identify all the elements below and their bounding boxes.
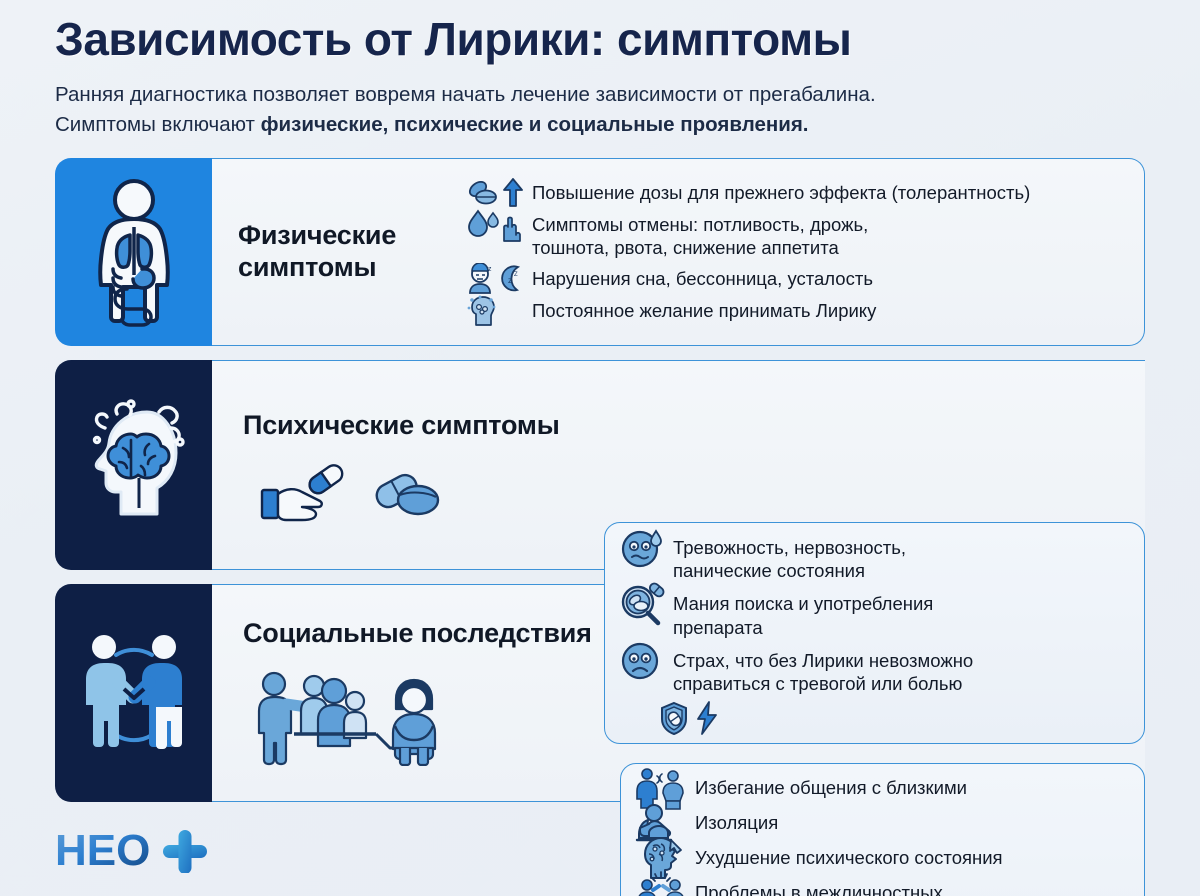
bullet-text: Нарушения сна, бессонница, усталость <box>532 266 873 290</box>
bullet-text-line-2: препарата <box>673 617 763 638</box>
bullet-text: Избегание общения с близкими <box>695 775 967 799</box>
conflict-people-icon <box>635 880 687 896</box>
svg-text:Z: Z <box>514 272 518 278</box>
bullet-text: Повышение дозы для прежнего эффекта (тол… <box>532 180 1030 204</box>
shield-pill-icon <box>659 701 689 740</box>
bullet-item: Постоянное желание принимать Лирику <box>466 298 1130 324</box>
social-bullets: Избегание общения с близкими Изоляция <box>635 775 1134 896</box>
bullet-text: Постоянное желание принимать Лирику <box>532 298 876 322</box>
page-title: Зависимость от Лирики: симптомы <box>55 14 1145 66</box>
cards-container: Физические симптомы По <box>0 158 1200 802</box>
bullet-text-line-1: Симптомы отмены: потливость, дрожь, <box>532 214 868 235</box>
page-header: Зависимость от Лирики: симптомы Ранняя д… <box>0 0 1200 140</box>
avoiding-people-icon <box>635 775 687 801</box>
bullet-item: Повышение дозы для прежнего эффекта (тол… <box>466 180 1130 206</box>
sweat-drops-trembling-hand-icon <box>466 212 524 238</box>
broken-mind-icon <box>635 845 687 871</box>
logo-text: НЕО <box>55 827 150 873</box>
card-social-bullets-panel: Избегание общения с близкими Изоляция <box>620 763 1145 896</box>
brand-logo: НЕО <box>55 827 225 878</box>
isolated-person <box>393 680 435 765</box>
two-people-handshake-icon <box>74 623 194 763</box>
bullet-text: Страх, что без Лирики невозможно справит… <box>673 648 973 696</box>
subtitle-line-2-prefix: Симптомы включают <box>55 113 261 136</box>
bullet-text-line-1: Проблемы в межличностных <box>695 882 943 896</box>
card-social-icon-panel <box>55 584 212 802</box>
lightning-bolt-icon <box>695 701 719 740</box>
group-isolation-icon <box>248 664 458 771</box>
bullet-item: Ухудшение психического состояния <box>635 845 1134 871</box>
page-subtitle: Ранняя диагностика позволяет вовремя нач… <box>55 80 1145 140</box>
head-brain-icon <box>75 390 193 540</box>
bullet-text: Мания поиска и употребления препарата <box>673 591 933 639</box>
card-physical-symptoms: Физические симптомы По <box>55 158 1145 346</box>
magnifier-pills-icon <box>619 591 665 617</box>
card-physical-bullets: Повышение дозы для прежнего эффекта (тол… <box>466 180 1130 324</box>
svg-text:z: z <box>508 276 512 285</box>
bullet-item: Мания поиска и употребления препарата <box>619 591 1134 639</box>
bullet-text-line-2: панические состояния <box>673 560 865 581</box>
bullet-item: Симптомы отмены: потливость, дрожь, тошн… <box>466 212 1130 260</box>
subtitle-line-2-bold: физические, психические и социальные про… <box>261 113 809 136</box>
sitting-alone-icon <box>635 810 687 836</box>
bullet-item: Страх, что без Лирики невозможно справит… <box>619 648 1134 696</box>
card-physical-title-wrap: Физические симптомы <box>238 220 466 284</box>
card-physical-icon-panel <box>55 158 212 346</box>
bullet-text: Ухудшение психического состояния <box>695 845 1003 869</box>
subtitle-line-1: Ранняя диагностика позволяет вовремя нач… <box>55 83 876 106</box>
bullet-text-line-1: Страх, что без Лирики невозможно <box>673 650 973 671</box>
card-physical-body: Физические симптомы По <box>212 158 1145 346</box>
bullet-item: Проблемы в межличностных и социальных от… <box>635 880 1134 896</box>
card-psychological-icon-panel <box>55 360 212 570</box>
bullet-item: Избегание общения с близкими <box>635 775 1134 801</box>
bullet-text: Тревожность, нервозность, панические сос… <box>673 535 906 583</box>
bullet-item: Изоляция <box>635 810 1134 836</box>
bullet-text-line-1: Мания поиска и употребления <box>673 593 933 614</box>
bullet-text-line-2: справиться с тревогой или болью <box>673 673 962 694</box>
bullet-item: Тревожность, нервозность, панические сос… <box>619 535 1134 583</box>
anxious-face-icon <box>619 535 665 561</box>
bullet-text: Изоляция <box>695 810 778 834</box>
bullet-text: Проблемы в межличностных и социальных от… <box>695 880 943 896</box>
card-social-title: Социальные последствия <box>243 618 592 650</box>
sad-face-icon <box>619 648 665 674</box>
craving-head-icon <box>466 298 524 324</box>
bullet-text-line-2: тошнота, рвота, снижение аппетита <box>532 237 839 258</box>
svg-text:z: z <box>488 266 492 273</box>
human-body-organs-icon <box>80 177 188 327</box>
bullet-text: Симптомы отмены: потливость, дрожь, тошн… <box>532 212 868 260</box>
card-psychological-title: Психические симптомы <box>243 410 560 442</box>
card-physical-title: Физические симптомы <box>238 220 466 284</box>
psych-footer-icons <box>659 701 1134 740</box>
sleepy-face-moon-icon: z z Z <box>466 266 524 292</box>
bullet-item: z z Z Нарушения сна, бессонница, усталос… <box>466 266 1130 292</box>
bullet-text-line-1: Тревожность, нервозность, <box>673 537 906 558</box>
hand-with-pills-icon <box>256 458 452 527</box>
pills-up-arrow-icon <box>466 180 524 206</box>
logo-plus-icon <box>163 830 207 873</box>
card-psychological-bullets-panel: Тревожность, нервозность, панические сос… <box>604 522 1145 744</box>
psychological-bullets: Тревожность, нервозность, панические сос… <box>619 535 1134 740</box>
